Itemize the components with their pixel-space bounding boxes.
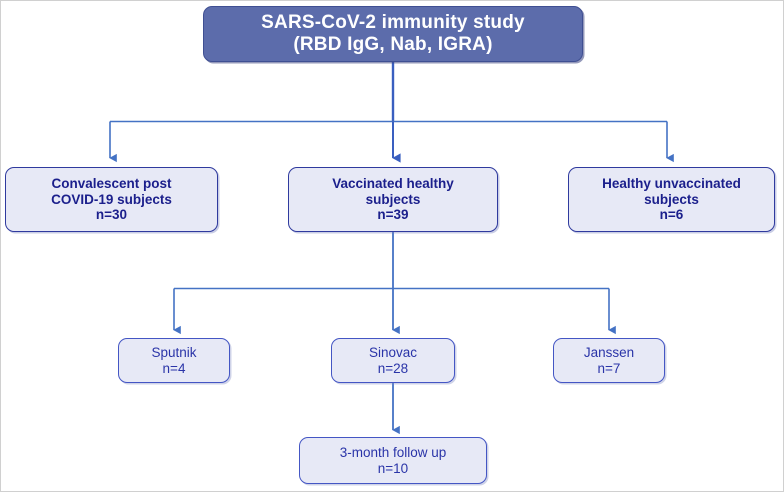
- flowchart-canvas: SARS-CoV-2 immunity study (RBD IgG, Nab,…: [0, 0, 784, 492]
- image-border: [0, 0, 784, 492]
